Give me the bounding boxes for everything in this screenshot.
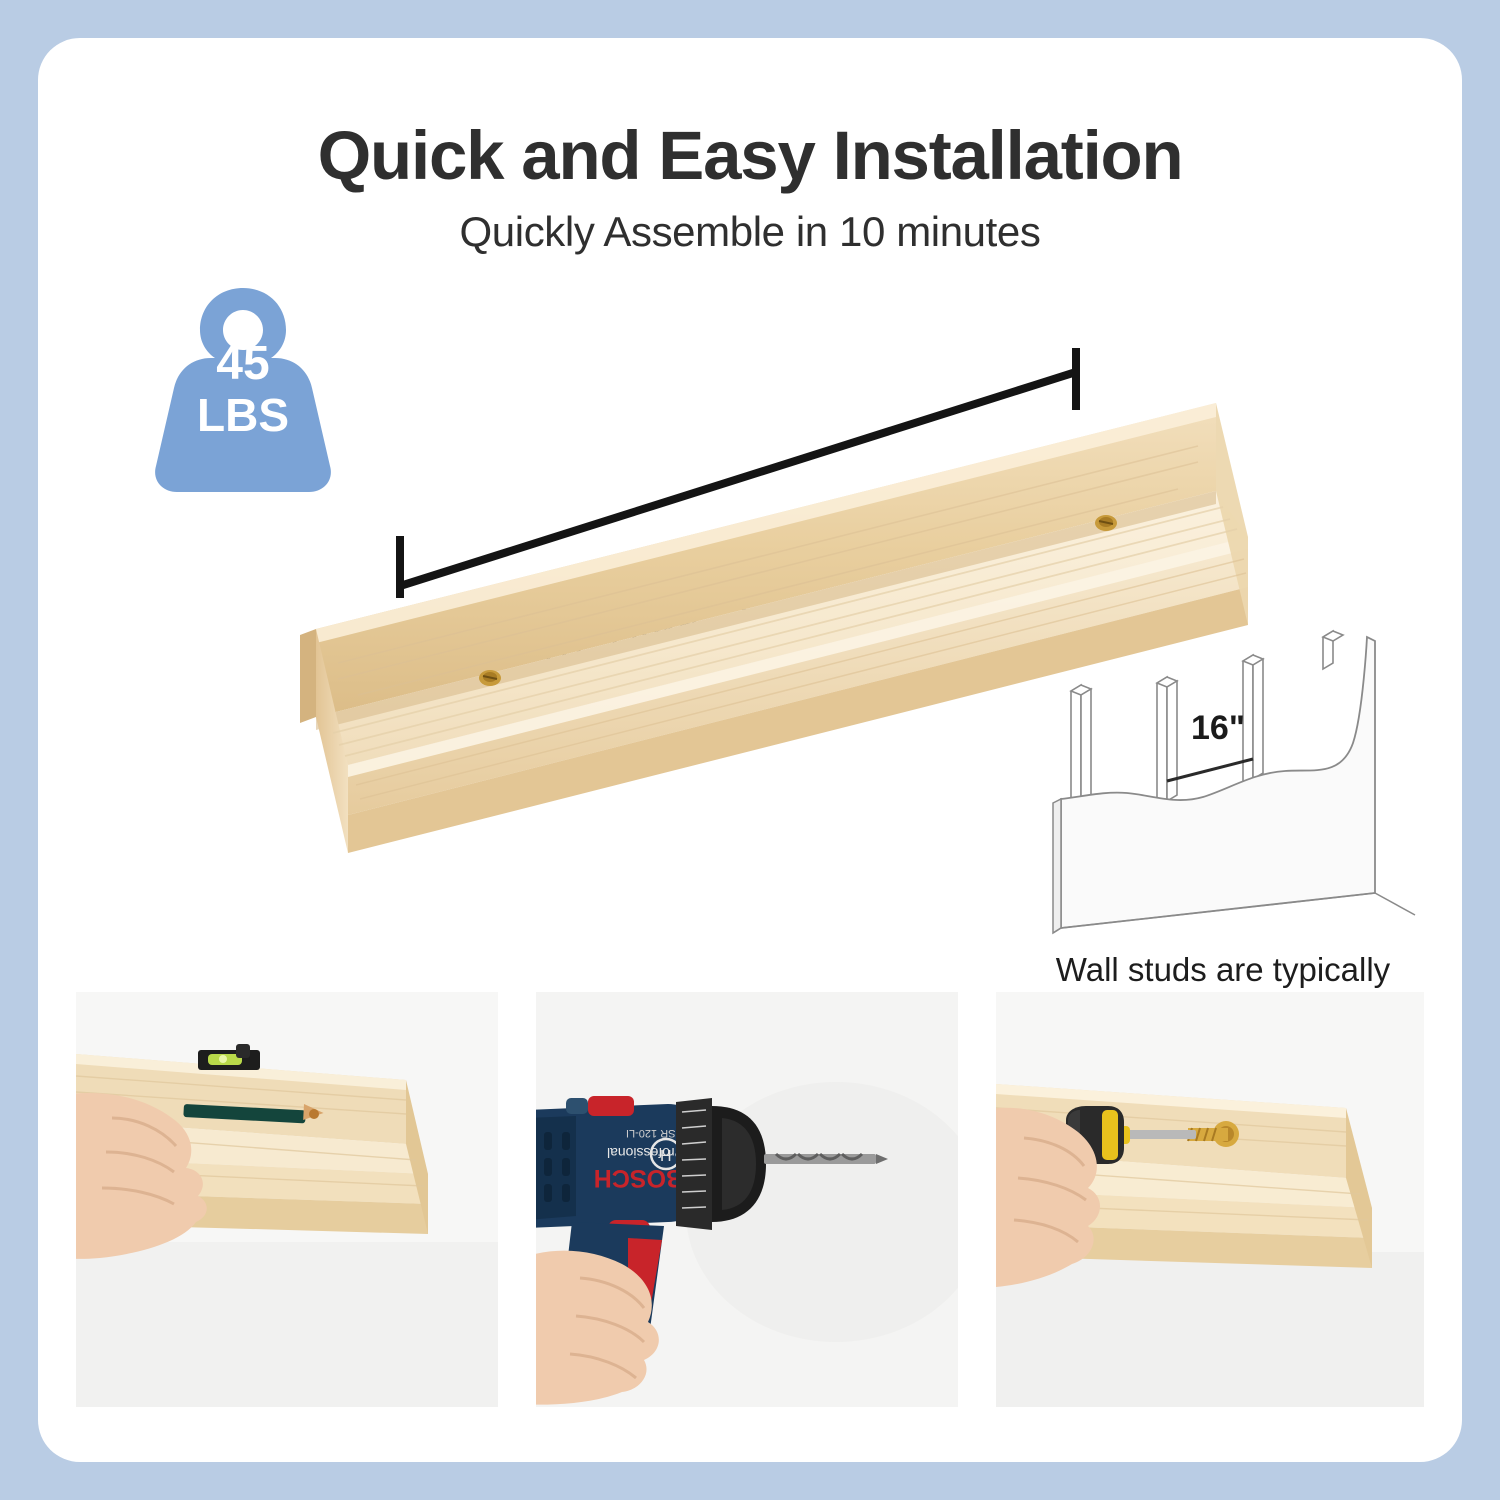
drill-model-text: GSR 120-LI — [626, 1127, 684, 1139]
svg-text:H: H — [660, 1148, 672, 1165]
mounting-screw — [1095, 515, 1117, 531]
mounting-screw — [479, 670, 501, 686]
step-drill-hole: BOSCH Professional GSR 120-LI H — [536, 992, 958, 1407]
installation-steps: BOSCH Professional GSR 120-LI H — [76, 992, 1424, 1407]
step-drive-screw — [996, 992, 1424, 1407]
hero-product-illustration: 16" Stud Spacing — [38, 268, 1462, 968]
page-title: Quick and Easy Installation — [38, 116, 1462, 195]
drill-line-text: Professional — [607, 1145, 684, 1161]
page-subtitle: Quickly Assemble in 10 minutes — [38, 208, 1462, 256]
step-level-and-mark — [76, 992, 498, 1407]
wall-stud-diagram: 16" — [1023, 593, 1443, 953]
infographic-card: Quick and Easy Installation Quickly Asse… — [38, 38, 1462, 1462]
stud-measurement-text: 16" — [1191, 709, 1245, 747]
